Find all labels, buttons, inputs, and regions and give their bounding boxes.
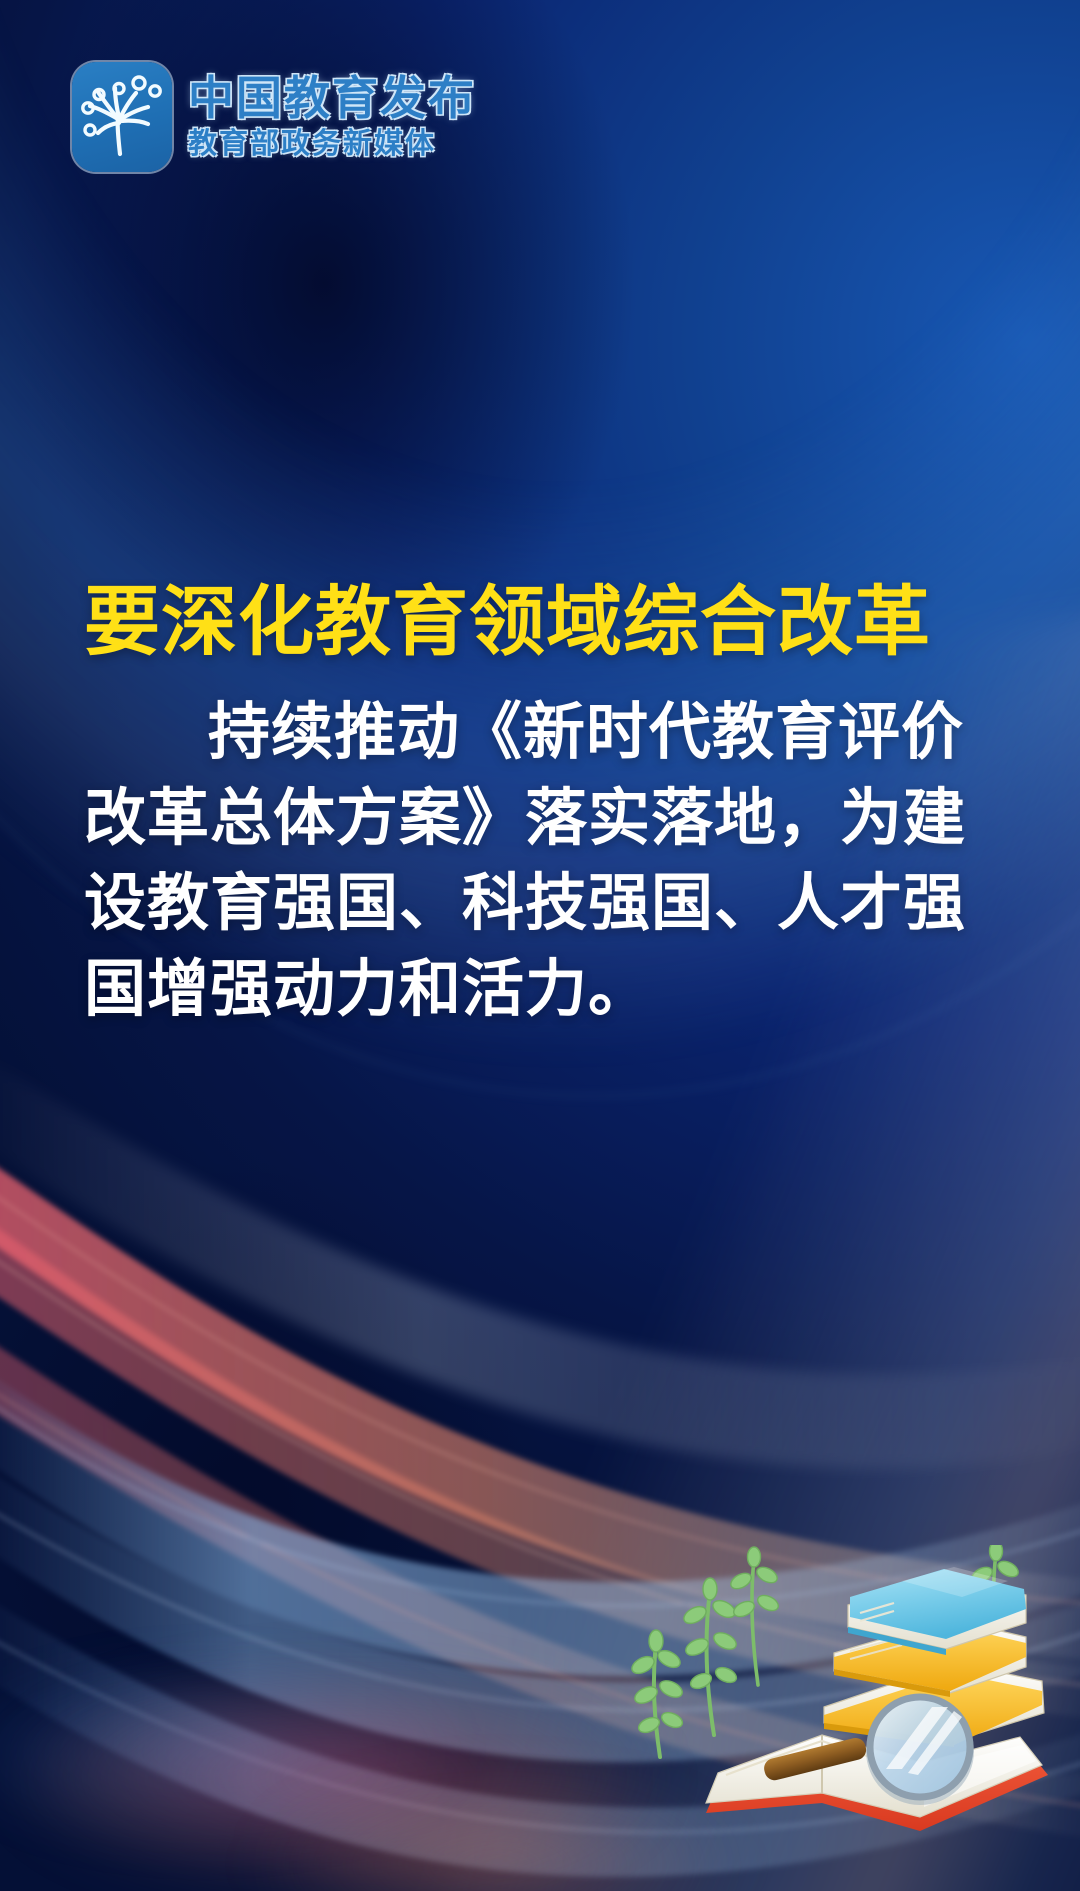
books-and-magnifier-illustration bbox=[602, 1545, 1072, 1875]
poster-root: 中国教育发布 教育部政务新媒体 要深化教育领域综合改革 持续推动《新时代教育评价… bbox=[0, 0, 1080, 1891]
dandelion-icon bbox=[72, 62, 172, 172]
brand-title: 中国教育发布 bbox=[188, 75, 476, 121]
brand-logo[interactable]: 中国教育发布 教育部政务新媒体 bbox=[72, 62, 476, 172]
body-paragraph: 持续推动《新时代教育评价改革总体方案》落实落地，为建设教育强国、科技强国、人才强… bbox=[84, 690, 996, 1032]
brand-subtitle: 教育部政务新媒体 bbox=[188, 130, 476, 159]
page-title: 要深化教育领域综合改革 bbox=[84, 560, 931, 670]
brand-logo-text: 中国教育发布 教育部政务新媒体 bbox=[188, 75, 476, 159]
